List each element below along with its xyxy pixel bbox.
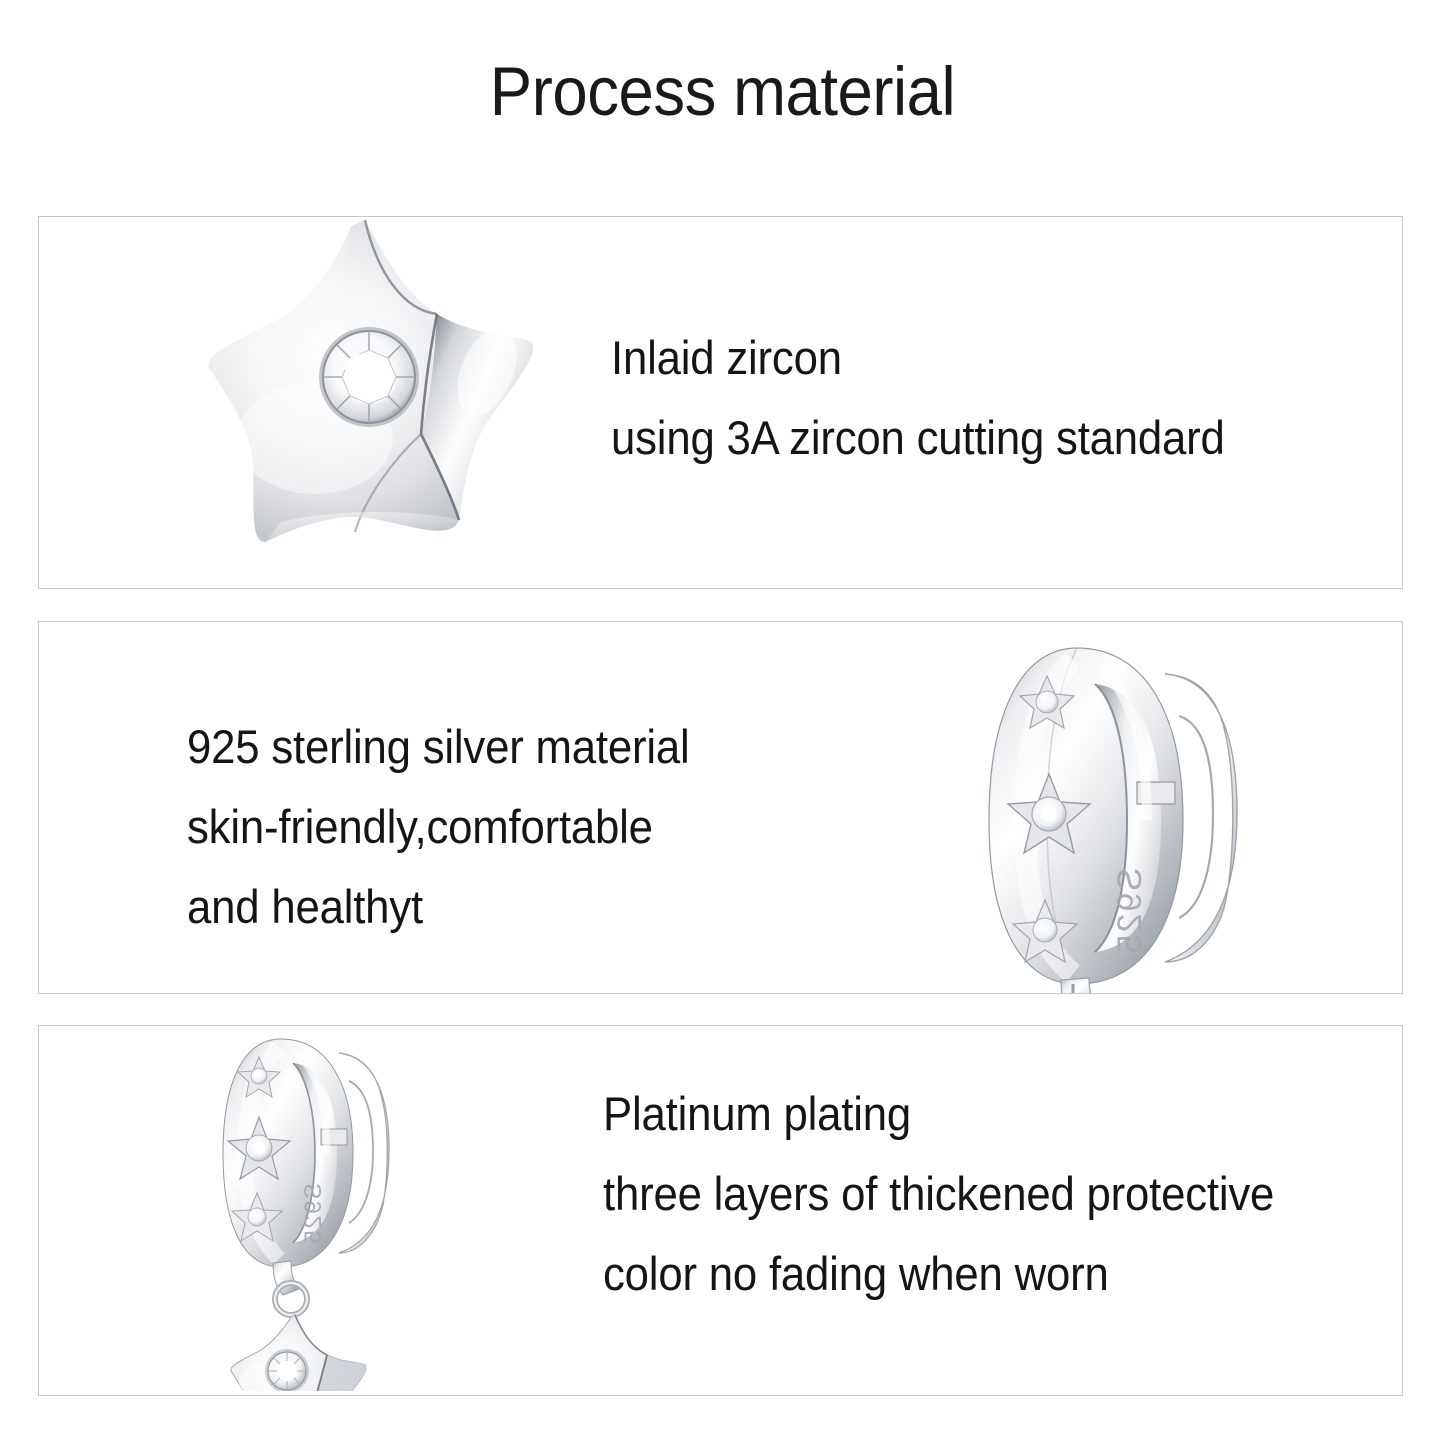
silver-huggie-hoop-earring-image: S925 <box>969 632 1299 994</box>
panel-2-line-1: 925 sterling silver material <box>187 707 690 787</box>
hoop-main-band <box>989 648 1183 984</box>
dangle-bail <box>273 1261 307 1315</box>
feature-panel-platinum-plating: S925 <box>38 1025 1403 1396</box>
zircon-stone <box>319 327 419 427</box>
feature-panel-inlaid-zircon: Inlaid zircon using 3A zircon cutting st… <box>38 216 1403 589</box>
panel-1-line-2: using 3A zircon cutting standard <box>611 398 1225 478</box>
feature-panel-sterling-silver: 925 sterling silver material skin-friend… <box>38 621 1403 994</box>
star-charm <box>231 1315 366 1391</box>
huggie-hoop-with-star-dangle-image: S925 <box>207 1031 457 1391</box>
panel-1-line-1: Inlaid zircon <box>611 318 1225 398</box>
panel-1-copy: Inlaid zircon using 3A zircon cutting st… <box>611 318 1225 478</box>
panel-2-line-2: skin-friendly,comfortable <box>187 787 690 867</box>
panel-3-copy: Platinum plating three layers of thicken… <box>603 1074 1274 1314</box>
hallmark-s925: S925 <box>300 1183 327 1245</box>
panel-3-line-1: Platinum plating <box>603 1074 1274 1154</box>
panel-3-line-2: three layers of thickened protective <box>603 1154 1274 1234</box>
panel-2-copy: 925 sterling silver material skin-friend… <box>187 707 690 947</box>
panel-3-line-3: color no fading when worn <box>603 1234 1274 1314</box>
star-pendant-with-zircon-image <box>169 216 549 589</box>
hallmark-s925: S925 <box>1111 868 1149 955</box>
page-title: Process material <box>58 52 1387 132</box>
panel-2-line-3: and healthyt <box>187 867 690 947</box>
